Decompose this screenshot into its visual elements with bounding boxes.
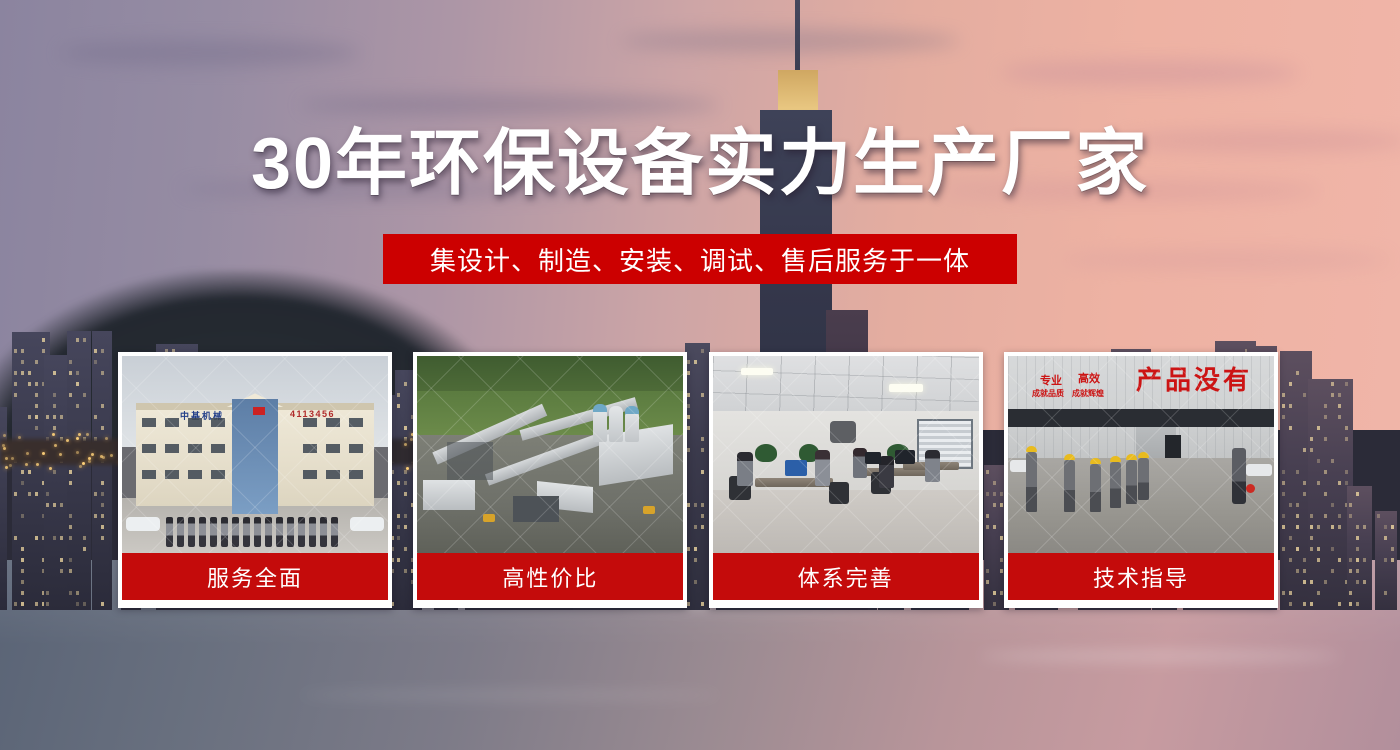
building-window: [83, 536, 86, 540]
building-window: [46, 415, 49, 419]
building-window: [1349, 569, 1352, 573]
building-window: [101, 404, 104, 408]
building-window: [1356, 492, 1359, 496]
building-window: [1338, 558, 1341, 562]
card-caption-label: 服务全面: [207, 561, 303, 593]
shore-light: [76, 451, 79, 454]
building-window: [76, 602, 79, 606]
photo-hard-hat: [1138, 452, 1149, 458]
building-window: [1391, 525, 1394, 529]
building-window: [1310, 547, 1313, 551]
building-window: [1282, 481, 1285, 485]
building-window: [53, 371, 56, 375]
building-window: [76, 371, 79, 375]
building-window: [60, 569, 63, 573]
photo-staff-member: [199, 517, 206, 547]
building-window: [69, 591, 72, 595]
building-window: [69, 371, 72, 375]
building-window: [60, 536, 63, 540]
building-window: [1331, 459, 1334, 463]
subtitle-banner: 集设计、制造、安装、调试、售后服务于一体: [383, 234, 1017, 284]
photo-staff-member: [188, 517, 195, 547]
card-caption-label: 技术指导: [1093, 561, 1189, 593]
building-window: [60, 503, 63, 507]
building-window: [101, 503, 104, 507]
building-window: [1282, 393, 1285, 397]
building-window: [1282, 415, 1285, 419]
building-window: [1331, 382, 1334, 386]
photo-staff-member: [287, 517, 294, 547]
photo-company-office-building: 中基机械 4113456: [122, 356, 388, 553]
shore-light: [49, 467, 52, 470]
photo-window: [303, 444, 317, 453]
building-window: [1310, 536, 1313, 540]
building-window: [14, 602, 17, 606]
building-window: [1324, 415, 1327, 419]
building-window: [76, 382, 79, 386]
photo-window: [165, 470, 179, 479]
shore-light: [25, 463, 28, 466]
building-window: [1331, 503, 1334, 507]
building-window: [46, 591, 49, 595]
photo-staff-member: [331, 517, 338, 547]
building-window: [1338, 404, 1341, 408]
building-window: [21, 558, 24, 562]
building-window: [69, 569, 72, 573]
building-window: [46, 492, 49, 496]
photo-window: [349, 418, 363, 427]
wall-slogan-2: 高效: [1078, 370, 1100, 386]
photo-window: [303, 418, 317, 427]
photo-staff-member: [265, 517, 272, 547]
photo-window: [211, 444, 225, 453]
photo-staff-member: [243, 517, 250, 547]
shore-light: [2, 444, 5, 447]
building-window: [1296, 514, 1299, 518]
building-window: [1303, 481, 1306, 485]
feature-card[interactable]: 高性价比: [413, 352, 687, 608]
building-window: [1324, 580, 1327, 584]
building-window: [1289, 558, 1292, 562]
building-window: [69, 536, 72, 540]
photo-staff-member: [177, 517, 184, 547]
shore-light: [5, 466, 8, 469]
photo-window: [303, 470, 317, 479]
photo-staff-member: [210, 517, 217, 547]
page-title: 30年环保设备实力生产厂家: [0, 128, 1400, 200]
photo-window: [326, 444, 340, 453]
building-window: [1282, 404, 1285, 408]
photo-window: [326, 418, 340, 427]
building-window: [1303, 558, 1306, 562]
building-window: [21, 481, 24, 485]
building-window: [1296, 547, 1299, 551]
photo-staff-member: [298, 517, 305, 547]
photo-window: [165, 444, 179, 453]
building-window: [1310, 437, 1313, 441]
photo-staff-member: [276, 517, 283, 547]
building-window: [1331, 525, 1334, 529]
shore-light: [9, 464, 12, 467]
building-window: [35, 536, 38, 540]
building-window: [83, 547, 86, 551]
building-window: [1317, 426, 1320, 430]
building-window: [1317, 547, 1320, 551]
photo-hard-hat: [1126, 454, 1137, 460]
building-window: [46, 602, 49, 606]
photo-staff-member: [232, 517, 239, 547]
building-window: [53, 503, 56, 507]
water-reflection: [300, 690, 720, 700]
building-window: [1391, 558, 1394, 562]
building-window: [101, 481, 104, 485]
building-window: [1338, 602, 1341, 606]
building-window: [1338, 514, 1341, 518]
building-window: [53, 393, 56, 397]
building-window: [76, 338, 79, 342]
building-window: [1356, 547, 1359, 551]
building-window: [1289, 602, 1292, 606]
card-caption: 服务全面: [122, 553, 388, 600]
building-window: [1338, 525, 1341, 529]
building-window: [1363, 525, 1366, 529]
building-window: [1282, 470, 1285, 474]
building-window: [1303, 448, 1306, 452]
building-window: [76, 591, 79, 595]
building-window: [1289, 503, 1292, 507]
shore-light: [88, 460, 91, 463]
photo-hard-hat: [1064, 454, 1075, 460]
building-window: [1310, 580, 1313, 584]
building-window: [53, 536, 56, 540]
building-window: [1356, 525, 1359, 529]
building-window: [1345, 481, 1348, 485]
building-window: [53, 404, 56, 408]
building-window: [42, 338, 45, 342]
photo-window: [326, 470, 340, 479]
building-window: [1296, 569, 1299, 573]
building-window: [1296, 371, 1299, 375]
building-window: [21, 514, 24, 518]
building-window: [35, 415, 38, 419]
building-window: [1349, 514, 1352, 518]
building-window: [21, 569, 24, 573]
promo-banner: 30年环保设备实力生产厂家 集设计、制造、安装、调试、售后服务于一体 中基机械 …: [0, 0, 1400, 750]
building-window: [1303, 393, 1306, 397]
building-window: [1356, 580, 1359, 584]
card-caption: 体系完善: [713, 553, 979, 600]
photo-window: [142, 470, 156, 479]
building-window: [1282, 514, 1285, 518]
building-window: [35, 382, 38, 386]
shore-light: [79, 465, 82, 468]
building-window: [69, 558, 72, 562]
shore-light: [36, 463, 39, 466]
building-window: [1289, 536, 1292, 540]
building-window: [1310, 448, 1313, 452]
building-window: [1289, 426, 1292, 430]
building-window: [101, 349, 104, 353]
building-window: [35, 360, 38, 364]
photo-staff-member: [254, 517, 261, 547]
building-window: [69, 360, 72, 364]
building-window: [21, 602, 24, 606]
building-window: [14, 371, 17, 375]
building-window: [28, 470, 31, 474]
building-window: [94, 360, 97, 364]
building-window: [1282, 492, 1285, 496]
shore-light: [76, 437, 79, 440]
shore-light: [3, 447, 6, 450]
building-window: [1391, 547, 1394, 551]
photo-worker: [1110, 462, 1121, 508]
photo-staff-member: [320, 517, 327, 547]
building-window: [1310, 602, 1313, 606]
building-window: [1338, 415, 1341, 419]
building-window: [1384, 536, 1387, 540]
building-window: [35, 393, 38, 397]
building-window: [1356, 558, 1359, 562]
building-window: [94, 514, 97, 518]
building-window: [21, 547, 24, 551]
wall-slogan-main: 产品没有: [1136, 360, 1252, 397]
photo-workers-at-factory: 产品没有 专业 高效 成就品质 成就辉煌: [1008, 356, 1274, 553]
building-window: [69, 393, 72, 397]
feature-card[interactable]: 体系完善: [709, 352, 983, 608]
photo-office-interior: [713, 356, 979, 553]
building-window: [1324, 470, 1327, 474]
photo-staff-member: [221, 517, 228, 547]
photo-staff-member: [166, 517, 173, 547]
photo-window: [349, 444, 363, 453]
photo-staff-member: [309, 517, 316, 547]
building-window: [83, 338, 86, 342]
building-window: [1303, 492, 1306, 496]
photo-aerial-industrial-plant: [417, 356, 683, 553]
building-window: [1331, 547, 1334, 551]
building-window: [21, 360, 24, 364]
photo-window: [165, 418, 179, 427]
building-window: [1356, 536, 1359, 540]
building-window: [28, 492, 31, 496]
building-window: [1317, 525, 1320, 529]
building-window: [1349, 503, 1352, 507]
photo-worker: [1064, 460, 1075, 512]
building-window: [28, 371, 31, 375]
building-window: [1296, 470, 1299, 474]
building-window: [14, 536, 17, 540]
building-window: [1289, 382, 1292, 386]
building-window: [1303, 602, 1306, 606]
wall-slogan-4: 成就辉煌: [1072, 388, 1104, 399]
subtitle-text: 集设计、制造、安装、调试、售后服务于一体: [430, 241, 970, 278]
building-window: [101, 536, 104, 540]
building-window: [35, 492, 38, 496]
building-window: [101, 525, 104, 529]
building-window: [21, 470, 24, 474]
photo-window: [188, 470, 202, 479]
building-window: [1303, 580, 1306, 584]
building-window: [14, 349, 17, 353]
building-window: [1345, 470, 1348, 474]
building-window: [1384, 525, 1387, 529]
building-window: [35, 602, 38, 606]
photo-window: [211, 418, 225, 427]
photo-hard-hat: [1026, 446, 1037, 452]
building-window: [1289, 591, 1292, 595]
wall-slogan-3: 成就品质: [1032, 388, 1064, 399]
building-window: [1356, 602, 1359, 606]
shore-light: [5, 457, 8, 460]
water-reflection: [980, 650, 1340, 662]
building-window: [69, 514, 72, 518]
building-window: [60, 415, 63, 419]
building-window: [101, 492, 104, 496]
building-window: [21, 591, 24, 595]
building-window: [1317, 591, 1320, 595]
building-window: [1338, 481, 1341, 485]
building-window: [101, 514, 104, 518]
building-window: [53, 470, 56, 474]
building-window: [21, 349, 24, 353]
building-window: [1282, 525, 1285, 529]
building-window: [69, 525, 72, 529]
building-window: [101, 371, 104, 375]
photo-worker: [1090, 464, 1101, 512]
building-window: [1324, 492, 1327, 496]
photo-hard-hat: [1110, 456, 1121, 462]
building-window: [1324, 404, 1327, 408]
building-window: [1345, 437, 1348, 441]
building-window: [1296, 503, 1299, 507]
building-window: [1363, 558, 1366, 562]
card-caption-label: 高性价比: [502, 561, 598, 593]
building-window: [83, 602, 86, 606]
building-window: [1331, 393, 1334, 397]
building-window: [94, 349, 97, 353]
building-window: [101, 602, 104, 606]
building-window: [14, 393, 17, 397]
building-window: [35, 404, 38, 408]
building-window: [1296, 525, 1299, 529]
building-window: [1377, 514, 1380, 518]
building-window: [1289, 404, 1292, 408]
building-window: [1349, 591, 1352, 595]
building-window: [46, 503, 49, 507]
building-window: [21, 371, 24, 375]
building-window: [94, 492, 97, 496]
building-window: [94, 415, 97, 419]
building-window: [1349, 558, 1352, 562]
building-window: [42, 349, 45, 353]
building-window: [60, 558, 63, 562]
building-window: [1282, 591, 1285, 595]
building-window: [1324, 514, 1327, 518]
photo-window: [188, 444, 202, 453]
card-caption: 技术指导: [1008, 553, 1274, 600]
building-window: [28, 415, 31, 419]
feature-card[interactable]: 产品没有 专业 高效 成就品质 成就辉煌 技术指导: [1004, 352, 1278, 608]
building-window: [21, 580, 24, 584]
building-window: [1282, 547, 1285, 551]
building-window: [69, 470, 72, 474]
building-window: [1331, 569, 1334, 573]
shore-light: [18, 436, 21, 439]
building-window: [35, 426, 38, 430]
building-window: [14, 382, 17, 386]
feature-card[interactable]: 中基机械 4113456 服务全面: [118, 352, 392, 608]
building-window: [1363, 580, 1366, 584]
photo-window: [188, 418, 202, 427]
building-window: [1345, 426, 1348, 430]
building-window: [1338, 393, 1341, 397]
building-window: [14, 492, 17, 496]
building-window: [1310, 514, 1313, 518]
building-window: [1384, 558, 1387, 562]
photo-window: [349, 470, 363, 479]
building-window: [1345, 382, 1348, 386]
building-window: [1303, 569, 1306, 573]
building-window: [1310, 525, 1313, 529]
tower-spire: [795, 0, 800, 70]
card-caption: 高性价比: [417, 553, 683, 600]
photo-hard-hat: [1090, 458, 1101, 464]
building-window: [1349, 602, 1352, 606]
building-window: [83, 393, 86, 397]
building-window: [69, 481, 72, 485]
photo-window: [142, 444, 156, 453]
wall-slogan-1: 专业: [1040, 372, 1062, 388]
photo-worker: [1126, 460, 1137, 504]
building-window: [1384, 591, 1387, 595]
building-window: [28, 382, 31, 386]
building-window: [1317, 558, 1320, 562]
building-window: [1317, 459, 1320, 463]
card-caption-label: 体系完善: [798, 561, 894, 593]
building-window: [53, 415, 56, 419]
building-window: [1324, 437, 1327, 441]
building-window: [101, 426, 104, 430]
wall-logo-decal: [830, 421, 856, 443]
building-window: [76, 404, 79, 408]
photo-worker: [1138, 458, 1149, 500]
building-window: [53, 426, 56, 430]
building-window: [1356, 569, 1359, 573]
feature-card-row: 中基机械 4113456 服务全面: [118, 352, 1278, 608]
photo-window: [211, 470, 225, 479]
building-window: [1317, 481, 1320, 485]
building: [0, 407, 7, 610]
photo-worker: [1026, 452, 1037, 512]
photo-window: [142, 418, 156, 427]
